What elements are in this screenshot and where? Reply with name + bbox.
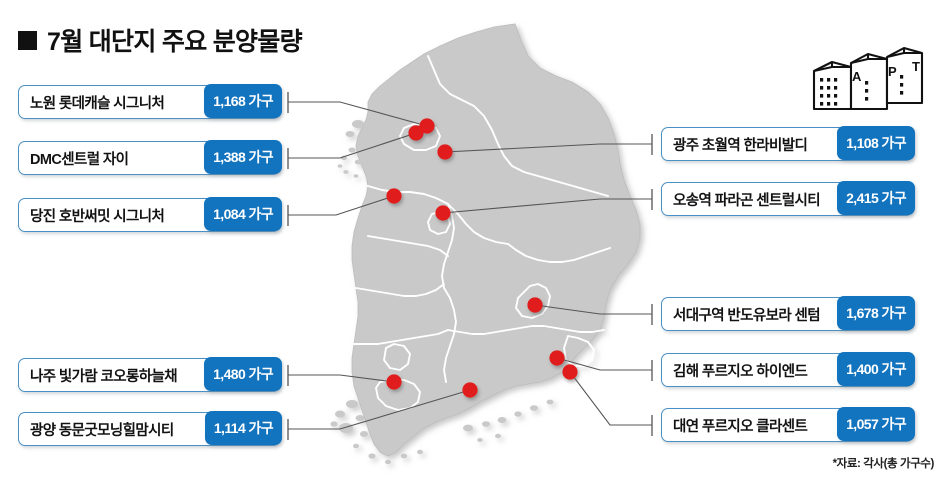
callout-value: 1,388 가구 xyxy=(204,140,282,174)
callout-gimhae[interactable]: 김해 푸르지오 하이엔드 1,400 가구 xyxy=(661,353,913,387)
map-pin-dangjin xyxy=(386,188,401,203)
callout-daeyeon[interactable]: 대연 푸르지오 클라센트 1,057 가구 xyxy=(661,408,913,442)
callout-body: 오송역 파라곤 센트럴시티 2,415 가구 xyxy=(661,182,913,216)
infographic-root: 7월 대단지 주요 분양물량 xyxy=(0,0,948,486)
callout-value: 1,168 가구 xyxy=(204,84,282,118)
callout-value: 1,480 가구 xyxy=(204,357,282,391)
map-pin-seodaegu xyxy=(527,297,542,312)
callout-value: 1,400 가구 xyxy=(837,352,915,386)
callout-value: 1,678 가구 xyxy=(837,296,915,330)
callout-label: 나주 빛가람 코오롱하늘채 xyxy=(19,365,177,386)
callout-label: 오송역 파라곤 센트럴시티 xyxy=(662,189,820,210)
callout-label: 대연 푸르지오 클라센트 xyxy=(662,415,807,436)
callout-gwangyang[interactable]: 광양 동문굿모닝힐맘시티 1,114 가구 xyxy=(18,412,280,446)
callout-label: DMC센트럴 자이 xyxy=(19,148,128,169)
callout-label: 김해 푸르지오 하이엔드 xyxy=(662,360,807,381)
map-pin-gwangyang xyxy=(462,382,477,397)
callout-body: 김해 푸르지오 하이엔드 1,400 가구 xyxy=(661,353,913,387)
callout-label: 노원 롯데캐슬 시그니처 xyxy=(19,92,164,113)
callout-value: 1,108 가구 xyxy=(837,126,915,160)
callout-dmc[interactable]: DMC센트럴 자이 1,388 가구 xyxy=(18,141,280,175)
callout-nowon[interactable]: 노원 롯데캐슬 시그니처 1,168 가구 xyxy=(18,85,280,119)
callout-value: 1,084 가구 xyxy=(204,197,282,231)
callout-label: 당진 호반써밋 시그니처 xyxy=(19,205,164,226)
callout-label: 광주 초월역 한라비발디 xyxy=(662,134,807,155)
callout-value: 1,057 가구 xyxy=(837,407,915,441)
map-pin-osong xyxy=(435,205,450,220)
callout-value: 2,415 가구 xyxy=(837,181,915,215)
map-pin-gwangju-chowol xyxy=(437,144,452,159)
map-pin-daeyeon xyxy=(562,364,577,379)
source-footnote: *자료: 각사(총 가구수) xyxy=(833,455,934,471)
callout-osong[interactable]: 오송역 파라곤 센트럴시티 2,415 가구 xyxy=(661,182,913,216)
callout-label: 서대구역 반도유보라 센텀 xyxy=(662,304,820,325)
callout-gwangju-chowol[interactable]: 광주 초월역 한라비발디 1,108 가구 xyxy=(661,127,913,161)
callout-dangjin[interactable]: 당진 호반써밋 시그니처 1,084 가구 xyxy=(18,198,280,232)
callout-body: 광주 초월역 한라비발디 1,108 가구 xyxy=(661,127,913,161)
callout-naju[interactable]: 나주 빛가람 코오롱하늘채 1,480 가구 xyxy=(18,358,280,392)
callout-seodaegu[interactable]: 서대구역 반도유보라 센텀 1,678 가구 xyxy=(661,297,913,331)
callout-body: DMC센트럴 자이 1,388 가구 xyxy=(18,141,280,175)
callout-body: 서대구역 반도유보라 센텀 1,678 가구 xyxy=(661,297,913,331)
callout-body: 노원 롯데캐슬 시그니처 1,168 가구 xyxy=(18,85,280,119)
map-pin-naju xyxy=(386,374,401,389)
callout-body: 대연 푸르지오 클라센트 1,057 가구 xyxy=(661,408,913,442)
callout-label: 광양 동문굿모닝힐맘시티 xyxy=(19,419,174,440)
callout-value: 1,114 가구 xyxy=(205,411,282,445)
callout-body: 나주 빛가람 코오롱하늘채 1,480 가구 xyxy=(18,358,280,392)
map-landmass xyxy=(331,24,641,464)
map-pin-gimhae xyxy=(549,350,564,365)
callout-body: 당진 호반써밋 시그니처 1,084 가구 xyxy=(18,198,280,232)
map-pin-dmc xyxy=(408,125,423,140)
callout-body: 광양 동문굿모닝힐맘시티 1,114 가구 xyxy=(18,412,280,446)
